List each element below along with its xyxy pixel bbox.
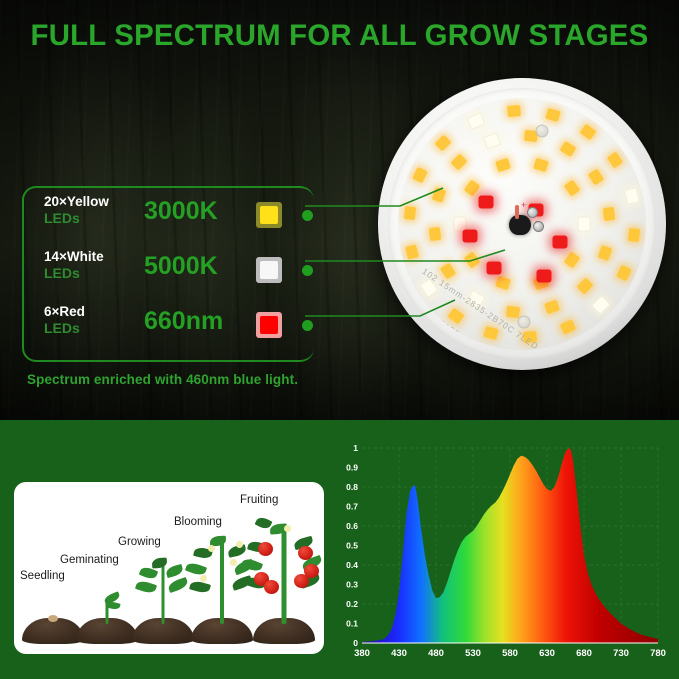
red-led bbox=[487, 262, 502, 275]
yellow-led bbox=[464, 252, 481, 269]
yellow-led bbox=[616, 265, 632, 281]
page-title: FULL SPECTRUM FOR ALL GROW STAGES bbox=[7, 19, 672, 53]
yellow-led bbox=[603, 206, 615, 220]
y-axis-tick-label: 0.3 bbox=[346, 580, 358, 590]
flower-icon bbox=[284, 525, 291, 532]
stage-fruiting bbox=[236, 510, 324, 644]
x-axis-tick-label: 380 bbox=[354, 648, 370, 659]
infographic-root: FULL SPECTRUM FOR ALL GROW STAGES 102 15… bbox=[0, 0, 679, 679]
legend-connector-dot-yellow bbox=[302, 210, 313, 221]
yellow-led bbox=[588, 168, 604, 185]
seed-icon bbox=[48, 615, 58, 622]
yellow-led bbox=[484, 326, 499, 340]
legend-sub-label: LEDs bbox=[44, 320, 80, 336]
x-axis-tick-label: 680 bbox=[576, 648, 592, 659]
x-axis-tick-label: 780 bbox=[650, 648, 666, 659]
y-axis-tick-label: 1 bbox=[353, 443, 358, 453]
legend-value: 3000K bbox=[144, 198, 218, 225]
yellow-led bbox=[435, 135, 452, 152]
hub-solder-blob bbox=[509, 215, 531, 235]
tomato-icon bbox=[298, 546, 313, 560]
flower-icon bbox=[200, 575, 207, 582]
yellow-led bbox=[506, 305, 520, 317]
yellow-led bbox=[564, 252, 581, 269]
legend-row-red: 6×Red LEDs 660nm bbox=[24, 306, 314, 358]
yellow-led bbox=[598, 245, 613, 261]
legend-sub-label: LEDs bbox=[44, 210, 80, 226]
yellow-led bbox=[495, 276, 511, 290]
stage-label-fruiting: Fruiting bbox=[240, 494, 278, 506]
legend-connector-dot-red bbox=[302, 320, 313, 331]
y-axis-tick-label: 0 bbox=[353, 638, 358, 648]
stage-label-seedling: Seedling bbox=[20, 570, 65, 582]
top-panel: FULL SPECTRUM FOR ALL GROW STAGES 102 15… bbox=[0, 0, 679, 420]
white-led bbox=[483, 132, 501, 149]
legend-sub-label: LEDs bbox=[44, 265, 80, 281]
plant-stem-icon bbox=[220, 540, 224, 624]
legend-swatch-red bbox=[256, 312, 282, 338]
legend-swatch-yellow bbox=[256, 202, 282, 228]
y-axis-tick-label: 0.4 bbox=[346, 560, 358, 570]
led-legend-box: 20×Yellow LEDs 3000K 14×White LEDs 5000K… bbox=[22, 186, 314, 362]
x-axis-tick-label: 730 bbox=[613, 648, 629, 659]
board-screw-bottom bbox=[518, 316, 531, 329]
yellow-led bbox=[607, 152, 623, 169]
yellow-led bbox=[428, 227, 440, 241]
x-axis-tick-label: 480 bbox=[428, 648, 444, 659]
y-axis-tick-label: 0.1 bbox=[346, 619, 358, 629]
yellow-led bbox=[412, 167, 428, 183]
white-led bbox=[578, 217, 591, 232]
white-led bbox=[591, 295, 611, 315]
leaf-icon bbox=[152, 557, 168, 568]
white-led bbox=[466, 112, 485, 130]
led-board-face: 102 15mm-2835-2B70C 7LED CC - 2129 + - bbox=[398, 98, 646, 350]
tomato-icon bbox=[258, 542, 273, 556]
y-axis-tick-label: 0.9 bbox=[346, 463, 358, 473]
yellow-led bbox=[628, 228, 640, 242]
yellow-led bbox=[403, 206, 415, 220]
legend-count-label: 6×Red bbox=[44, 304, 85, 319]
x-axis-tick-label: 530 bbox=[465, 648, 481, 659]
legend-count-label: 20×Yellow bbox=[44, 194, 109, 209]
yellow-led bbox=[507, 105, 521, 117]
spectrum-area bbox=[362, 448, 658, 643]
hub-wire bbox=[515, 205, 519, 219]
yellow-led bbox=[464, 179, 481, 196]
y-axis-tick-label: 0.7 bbox=[346, 502, 358, 512]
x-axis-tick-label: 630 bbox=[539, 648, 555, 659]
yellow-led bbox=[560, 319, 576, 334]
stage-label-blooming: Blooming bbox=[174, 516, 222, 528]
tagline: Spectrum enriched with 460nm blue light. bbox=[27, 372, 298, 387]
yellow-led bbox=[451, 154, 468, 171]
spectrum-chart-svg: 00.10.20.30.40.50.60.70.80.9138043048053… bbox=[336, 440, 666, 665]
bottom-panel: Seedling Geminating Growing bbox=[0, 420, 679, 679]
legend-connector-dot-white bbox=[302, 265, 313, 276]
hub-screw-b bbox=[533, 221, 544, 232]
legend-count-label: 14×White bbox=[44, 249, 104, 264]
legend-row-white: 14×White LEDs 5000K bbox=[24, 251, 314, 303]
yellow-led bbox=[564, 179, 581, 196]
plant-stem-icon bbox=[282, 528, 287, 624]
yellow-led bbox=[579, 124, 596, 141]
legend-value: 5000K bbox=[144, 253, 218, 280]
red-led bbox=[479, 196, 494, 209]
growth-stages-card: Seedling Geminating Growing bbox=[14, 482, 324, 654]
stage-label-geminating: Geminating bbox=[60, 554, 119, 566]
white-led bbox=[623, 187, 639, 205]
y-axis-tick-label: 0.5 bbox=[346, 541, 358, 551]
x-axis-tick-label: 430 bbox=[391, 648, 407, 659]
legend-swatch-white bbox=[256, 257, 282, 283]
y-axis-tick-label: 0.6 bbox=[346, 521, 358, 531]
leaf-icon bbox=[241, 557, 263, 574]
yellow-led bbox=[576, 277, 593, 294]
yellow-led bbox=[406, 244, 420, 259]
spectrum-chart: 00.10.20.30.40.50.60.70.80.9138043048053… bbox=[336, 440, 666, 665]
yellow-led bbox=[560, 141, 577, 157]
led-board-hub: + - bbox=[499, 201, 545, 237]
plant-stem-icon bbox=[162, 564, 165, 624]
yellow-led bbox=[544, 299, 560, 314]
red-led bbox=[537, 270, 552, 283]
x-axis-tick-label: 580 bbox=[502, 648, 518, 659]
yellow-led bbox=[545, 108, 560, 122]
board-screw-top bbox=[535, 124, 548, 137]
hub-screw-a bbox=[527, 207, 538, 218]
yellow-led bbox=[495, 158, 511, 172]
red-led bbox=[463, 230, 478, 243]
leaf-icon bbox=[189, 579, 211, 594]
yellow-led bbox=[431, 188, 446, 204]
polarity-plus-icon: + bbox=[521, 201, 526, 210]
leaf-icon bbox=[135, 579, 157, 595]
led-board: 102 15mm-2835-2B70C 7LED CC - 2129 + - bbox=[378, 78, 666, 370]
yellow-led bbox=[448, 307, 465, 324]
red-led bbox=[553, 236, 568, 249]
legend-value: 660nm bbox=[144, 308, 223, 335]
stage-label-growing: Growing bbox=[118, 536, 161, 548]
legend-row-yellow: 20×Yellow LEDs 3000K bbox=[24, 196, 314, 248]
stage-seedling bbox=[22, 604, 84, 644]
flower-icon bbox=[208, 545, 215, 552]
tomato-icon bbox=[264, 580, 279, 594]
y-axis-tick-label: 0.8 bbox=[346, 482, 358, 492]
tomato-icon bbox=[304, 564, 319, 578]
yellow-led bbox=[533, 158, 549, 172]
y-axis-tick-label: 0.2 bbox=[346, 599, 358, 609]
